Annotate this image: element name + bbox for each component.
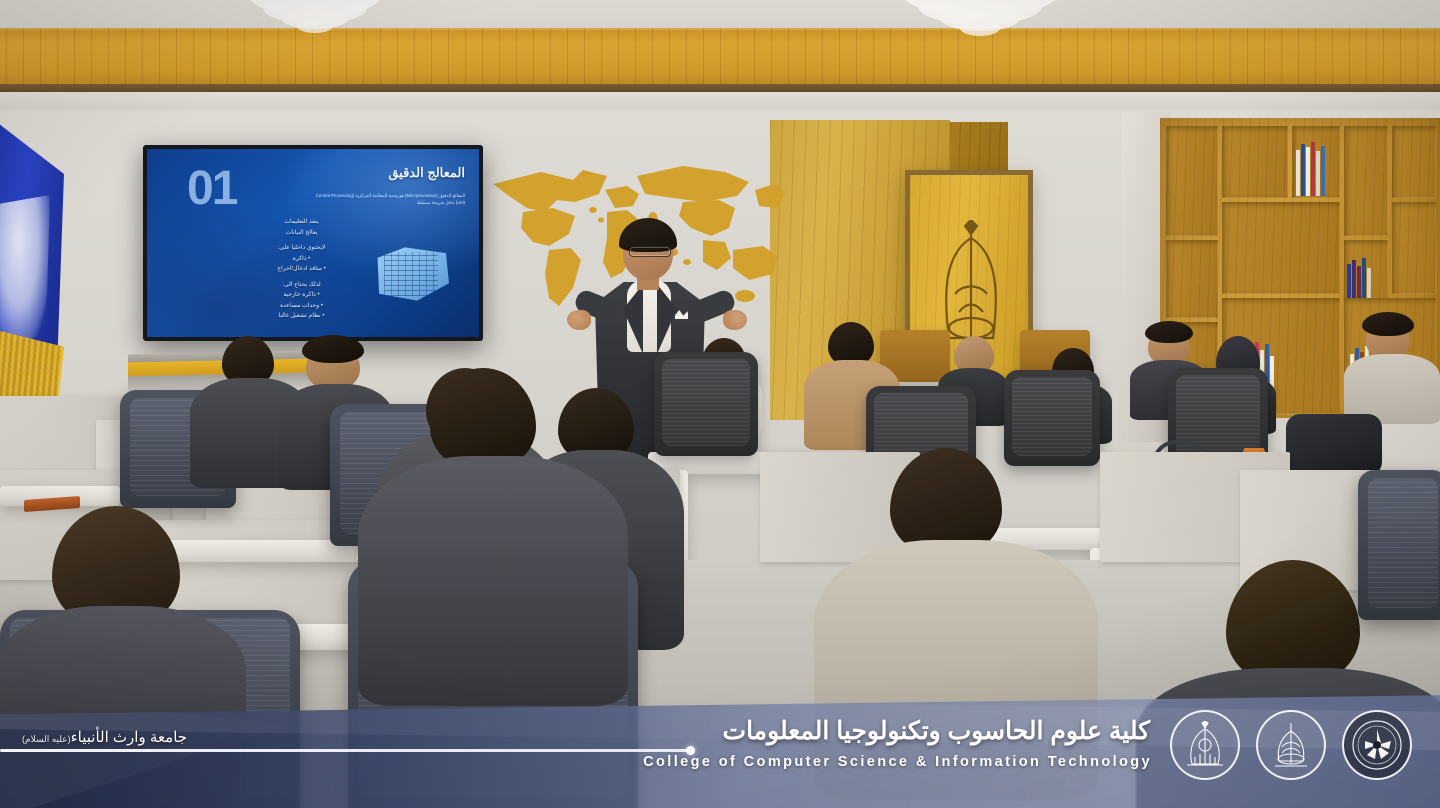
books-group: [1347, 258, 1371, 316]
slide-bullet: • وحدات مساعدة: [229, 301, 374, 312]
shelf-cell: [1166, 126, 1218, 236]
college-name-english: College of Computer Science & Informatio…: [643, 754, 1152, 770]
shelf-cell: [1344, 126, 1388, 236]
presenter-glasses-icon: [629, 246, 671, 257]
slide-bullet: • نظام تشغيل غالبا: [229, 311, 374, 322]
slide-title: المعالج الدقيق: [388, 165, 465, 181]
banner-rule: [0, 749, 690, 752]
university-honorific: (عليه السلام): [22, 734, 71, 744]
college-seal-logo: [1256, 710, 1326, 780]
screenshot-root: وارث: [0, 0, 1440, 808]
slide-group-b-heading: لذلك يحتاج الى:: [229, 280, 374, 291]
shelf-cell: [1392, 202, 1436, 294]
ministry-of-higher-education-logo: [1342, 710, 1412, 780]
presentation-screen[interactable]: 01 المعالج الدقيق المعالج الدقيق (Microp…: [143, 145, 483, 341]
flag-emblem-icon: [0, 195, 50, 345]
office-chair[interactable]: [1358, 470, 1440, 620]
ministry-seal-icon: [1351, 719, 1403, 771]
ceiling-wood-band: [0, 28, 1440, 88]
slide-subtitle: المعالج الدقيق (Microprocessor) هو وحدة …: [315, 193, 465, 206]
shelf-cell: [1222, 126, 1288, 198]
university-name: جامعة وارث الأنبياء(عليه السلام): [22, 728, 187, 746]
slide-bullet: ينفذ التعليمات: [229, 217, 374, 228]
chandelier-left: [230, 0, 400, 40]
chandelier-right: [880, 0, 1080, 44]
slide-bullet: • ذاكرة: [229, 254, 374, 265]
slide-group-a-heading: لايحتوي داخليا على:: [229, 243, 374, 254]
presenter-hand-left: [567, 310, 591, 330]
shelf-cell: [1292, 126, 1340, 198]
slide-bullet: يعالج البيانات: [229, 228, 374, 239]
university-name-text: جامعة وارث الأنبياء: [71, 729, 187, 746]
office-chair[interactable]: [1004, 370, 1100, 466]
logo-row: [1170, 710, 1412, 780]
slide-bullet: • منافذ ادخال/اخراج: [229, 264, 374, 275]
shelf-cell: [1392, 126, 1436, 198]
slide-bullet-list: ينفذ التعليمات يعالج البيانات لايحتوي دا…: [229, 217, 374, 322]
college-seal-icon: [1269, 721, 1313, 769]
slide-bullet: • ذاكرة خارجية: [229, 290, 374, 301]
black-backpack: [1286, 414, 1382, 476]
college-name-arabic: كلية علوم الحاسوب وتكنولوجيا المعلومات: [723, 716, 1150, 746]
slide-display: 01 المعالج الدقيق المعالج الدقيق (Microp…: [147, 149, 479, 337]
books-group: [1296, 142, 1325, 196]
university-seal-icon: [1183, 721, 1227, 769]
shelf-cell: [1344, 240, 1388, 318]
office-chair[interactable]: [654, 352, 758, 456]
shelf-cell: [1222, 202, 1340, 294]
shelf-cell: [1166, 240, 1218, 318]
microprocessor-chip-icon: [373, 245, 449, 303]
university-seal-logo: [1170, 710, 1240, 780]
slide-number: 01: [187, 165, 236, 213]
